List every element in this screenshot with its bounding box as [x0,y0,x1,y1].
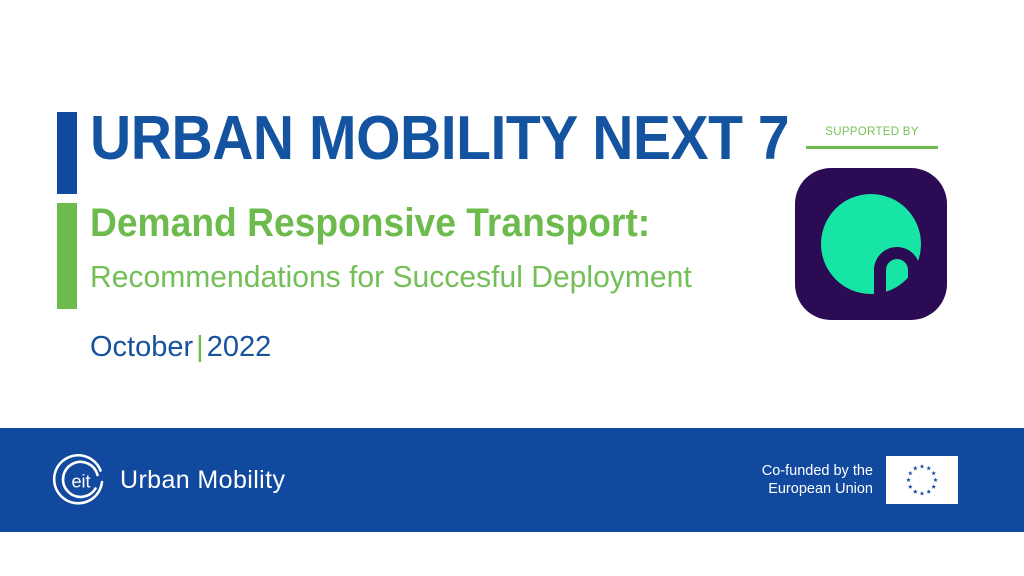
cover-slide: URBAN MOBILITY NEXT 7 Demand Responsive … [0,0,1024,576]
eu-stars-circle [886,456,958,504]
eu-funding-line-2: European Union [762,480,873,498]
supported-by-block: SUPPORTED BY [806,126,938,149]
eit-wordmark: Urban Mobility [120,466,285,495]
eu-funding-line-1: Co-funded by the [762,462,873,480]
publication-date: October|2022 [90,330,271,364]
partner-logo-nommon [795,168,947,320]
eit-urban-mobility-logo: eit Urban Mobility [52,452,285,508]
date-separator: | [193,331,207,363]
letter-n-icon [871,246,923,294]
eu-funding-text: Co-funded by the European Union [762,462,873,498]
eit-swirl-icon: eit [52,452,108,508]
page-subtitle-secondary: Recommendations for Succesful Deployment [90,258,692,296]
partner-logo-circle [821,194,921,294]
page-subtitle: Demand Responsive Transport: [90,200,650,246]
supported-by-label: SUPPORTED BY [806,126,938,138]
page-title: URBAN MOBILITY NEXT 7 [90,108,789,170]
eu-flag-icon [886,456,958,504]
eu-funding-badge: Co-funded by the European Union [762,456,958,504]
accent-bar-blue [57,112,77,194]
accent-bar-green [57,203,77,309]
svg-text:eit: eit [71,472,90,492]
publication-year: 2022 [207,331,272,363]
supported-by-divider [806,146,938,149]
publication-month: October [90,331,193,363]
